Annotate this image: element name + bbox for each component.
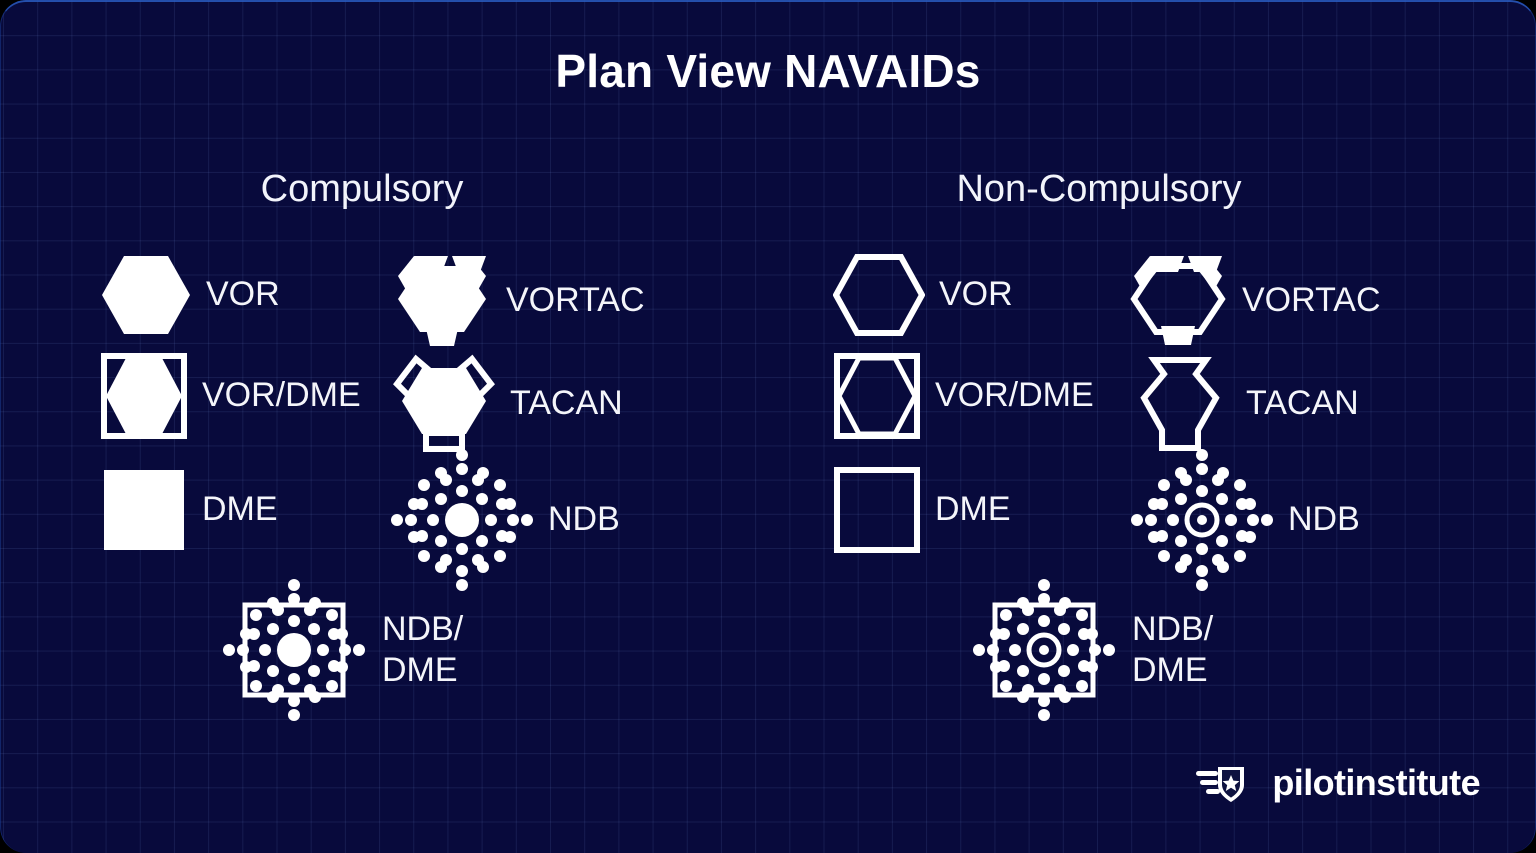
column-heading-compulsory: Compulsory	[112, 168, 612, 211]
legend-item-compulsory-ndb-dme: NDB/ DME	[218, 574, 463, 726]
winged-shield-star-icon	[1196, 761, 1260, 805]
legend-item-compulsory-vor: VOR	[100, 252, 280, 338]
legend-label: VOR/DME	[935, 375, 1094, 416]
legend-item-compulsory-vor-dme: VOR/DME	[100, 352, 361, 440]
legend-label: VOR	[206, 274, 280, 315]
legend-item-compulsory-vortac: VORTAC	[392, 252, 645, 350]
legend-item-compulsory-ndb: NDB	[388, 446, 620, 594]
hexagon-filled-icon	[100, 252, 192, 338]
legend-label: NDB/ DME	[382, 609, 463, 692]
tacan-outline-icon	[1128, 352, 1232, 456]
legend-item-compulsory-tacan: TACAN	[392, 352, 623, 456]
legend-item-non-compulsory-tacan: TACAN	[1128, 352, 1359, 456]
legend-label: TACAN	[1246, 383, 1359, 424]
legend-item-non-compulsory-vor: VOR	[833, 252, 1013, 338]
legend-item-non-compulsory-ndb: NDB	[1128, 446, 1360, 594]
legend-item-non-compulsory-vortac: VORTAC	[1128, 252, 1381, 350]
hexagon-filled-in-square-icon	[100, 352, 188, 440]
legend-label: VORTAC	[506, 280, 645, 321]
vortac-filled-icon	[392, 252, 492, 350]
legend-label: TACAN	[510, 383, 623, 424]
column-heading-non-compulsory: Non-Compulsory	[849, 168, 1349, 211]
ndb-dots-filled-center-in-square-icon	[218, 574, 370, 726]
hexagon-outline-icon	[833, 252, 925, 338]
legend-label: DME	[935, 489, 1011, 530]
navaid-legend-card: Plan View NAVAIDs Compulsory Non-Compuls…	[0, 0, 1536, 853]
legend-label: NDB/ DME	[1132, 609, 1213, 692]
ndb-dots-filled-center-icon	[388, 446, 536, 594]
ndb-dots-ring-center-icon	[1128, 446, 1276, 594]
legend-item-compulsory-dme: DME	[100, 466, 278, 554]
vortac-outline-filled-ears-icon	[1128, 252, 1228, 350]
tacan-filled-hollow-ears-icon	[392, 352, 496, 456]
legend-label: VOR/DME	[202, 375, 361, 416]
page-title: Plan View NAVAIDs	[0, 44, 1536, 98]
legend-label: DME	[202, 489, 278, 530]
legend-label: VORTAC	[1242, 280, 1381, 321]
legend-item-non-compulsory-vor-dme: VOR/DME	[833, 352, 1094, 440]
legend-item-non-compulsory-ndb-dme: NDB/ DME	[968, 574, 1213, 726]
square-outline-icon	[833, 466, 921, 554]
legend-label: VOR	[939, 274, 1013, 315]
legend-label: NDB	[548, 499, 620, 540]
square-filled-icon	[100, 466, 188, 554]
ndb-dots-ring-center-in-square-icon	[968, 574, 1120, 726]
legend-item-non-compulsory-dme: DME	[833, 466, 1011, 554]
legend-label: NDB	[1288, 499, 1360, 540]
brand-logo: pilotinstitute	[1196, 761, 1480, 805]
hexagon-outline-in-square-outline-icon	[833, 352, 921, 440]
brand-logo-text: pilotinstitute	[1272, 762, 1480, 804]
